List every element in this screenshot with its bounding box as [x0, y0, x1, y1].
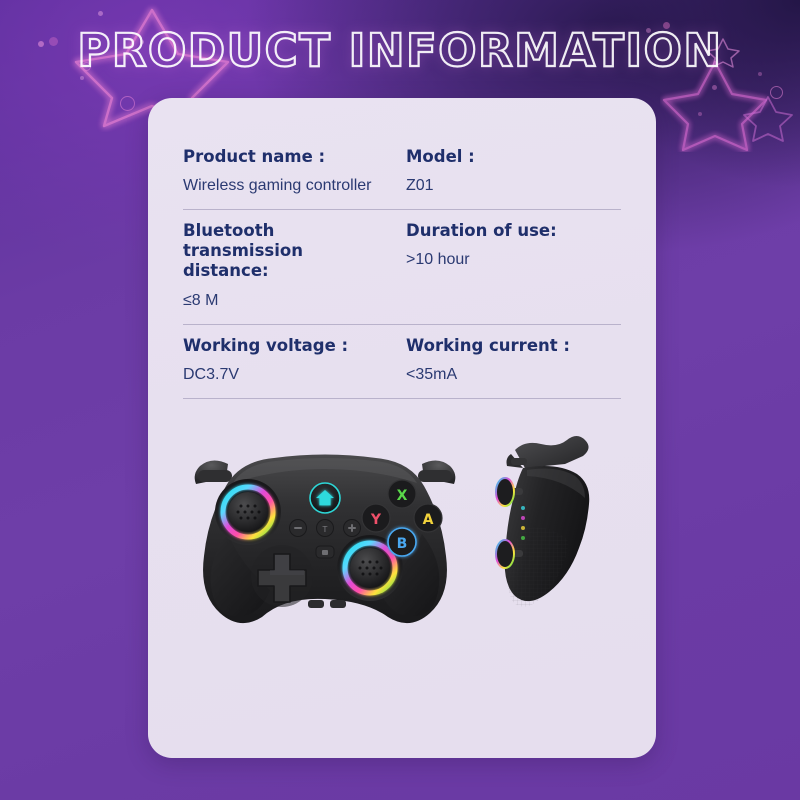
- turbo-button: T: [317, 520, 334, 537]
- spec-label: Model :: [406, 147, 613, 167]
- product-info-card: Product name : Wireless gaming controlle…: [148, 98, 656, 758]
- page-title: PRODUCT INFORMATION: [77, 22, 722, 80]
- spec-value: <35mA: [406, 365, 613, 385]
- title-container: PRODUCT INFORMATION: [0, 22, 800, 80]
- spec-label: Duration of use:: [406, 221, 613, 241]
- home-button: [310, 483, 340, 513]
- face-button-b-label: B: [397, 536, 408, 552]
- face-button-y-label: Y: [370, 512, 382, 528]
- specification-table: Product name : Wireless gaming controlle…: [183, 136, 621, 399]
- spec-cell-product-name: Product name : Wireless gaming controlle…: [183, 147, 402, 196]
- minus-button: [290, 520, 307, 537]
- extra-button-right: [330, 600, 346, 608]
- face-button-x: X: [388, 480, 416, 508]
- extra-button-left: [308, 600, 324, 608]
- spec-value: ≤8 M: [183, 291, 394, 311]
- capture-button: [316, 546, 334, 558]
- spec-label: Working current :: [406, 336, 613, 356]
- table-row: Product name : Wireless gaming controlle…: [183, 136, 621, 210]
- spec-cell-duration: Duration of use: >10 hour: [402, 221, 621, 310]
- face-button-b: B: [388, 528, 416, 556]
- spec-cell-bluetooth-distance: Bluetooth transmission distance: ≤8 M: [183, 221, 402, 310]
- table-row: Bluetooth transmission distance: ≤8 M Du…: [183, 210, 621, 324]
- spec-cell-model: Model : Z01: [402, 147, 621, 196]
- plus-button: [344, 520, 361, 537]
- spec-cell-working-current: Working current : <35mA: [402, 336, 621, 385]
- spec-label: Working voltage :: [183, 336, 394, 356]
- spec-value: Wireless gaming controller: [183, 176, 394, 196]
- controller-front-view-image: T X Y: [170, 428, 480, 643]
- turbo-button-label: T: [322, 525, 328, 534]
- spec-cell-working-voltage: Working voltage : DC3.7V: [183, 336, 402, 385]
- face-button-a: A: [414, 504, 442, 532]
- product-images: T X Y: [148, 428, 656, 688]
- face-button-x-label: X: [397, 488, 408, 504]
- face-button-a-label: A: [423, 512, 434, 528]
- spec-value: Z01: [406, 176, 613, 196]
- controller-side-view-image: [493, 428, 623, 643]
- table-row: Working voltage : DC3.7V Working current…: [183, 325, 621, 399]
- spec-value: DC3.7V: [183, 365, 394, 385]
- spec-label: Product name :: [183, 147, 394, 167]
- spec-value: >10 hour: [406, 250, 613, 270]
- spec-label: Bluetooth transmission distance:: [183, 221, 394, 281]
- face-button-y: Y: [362, 504, 390, 532]
